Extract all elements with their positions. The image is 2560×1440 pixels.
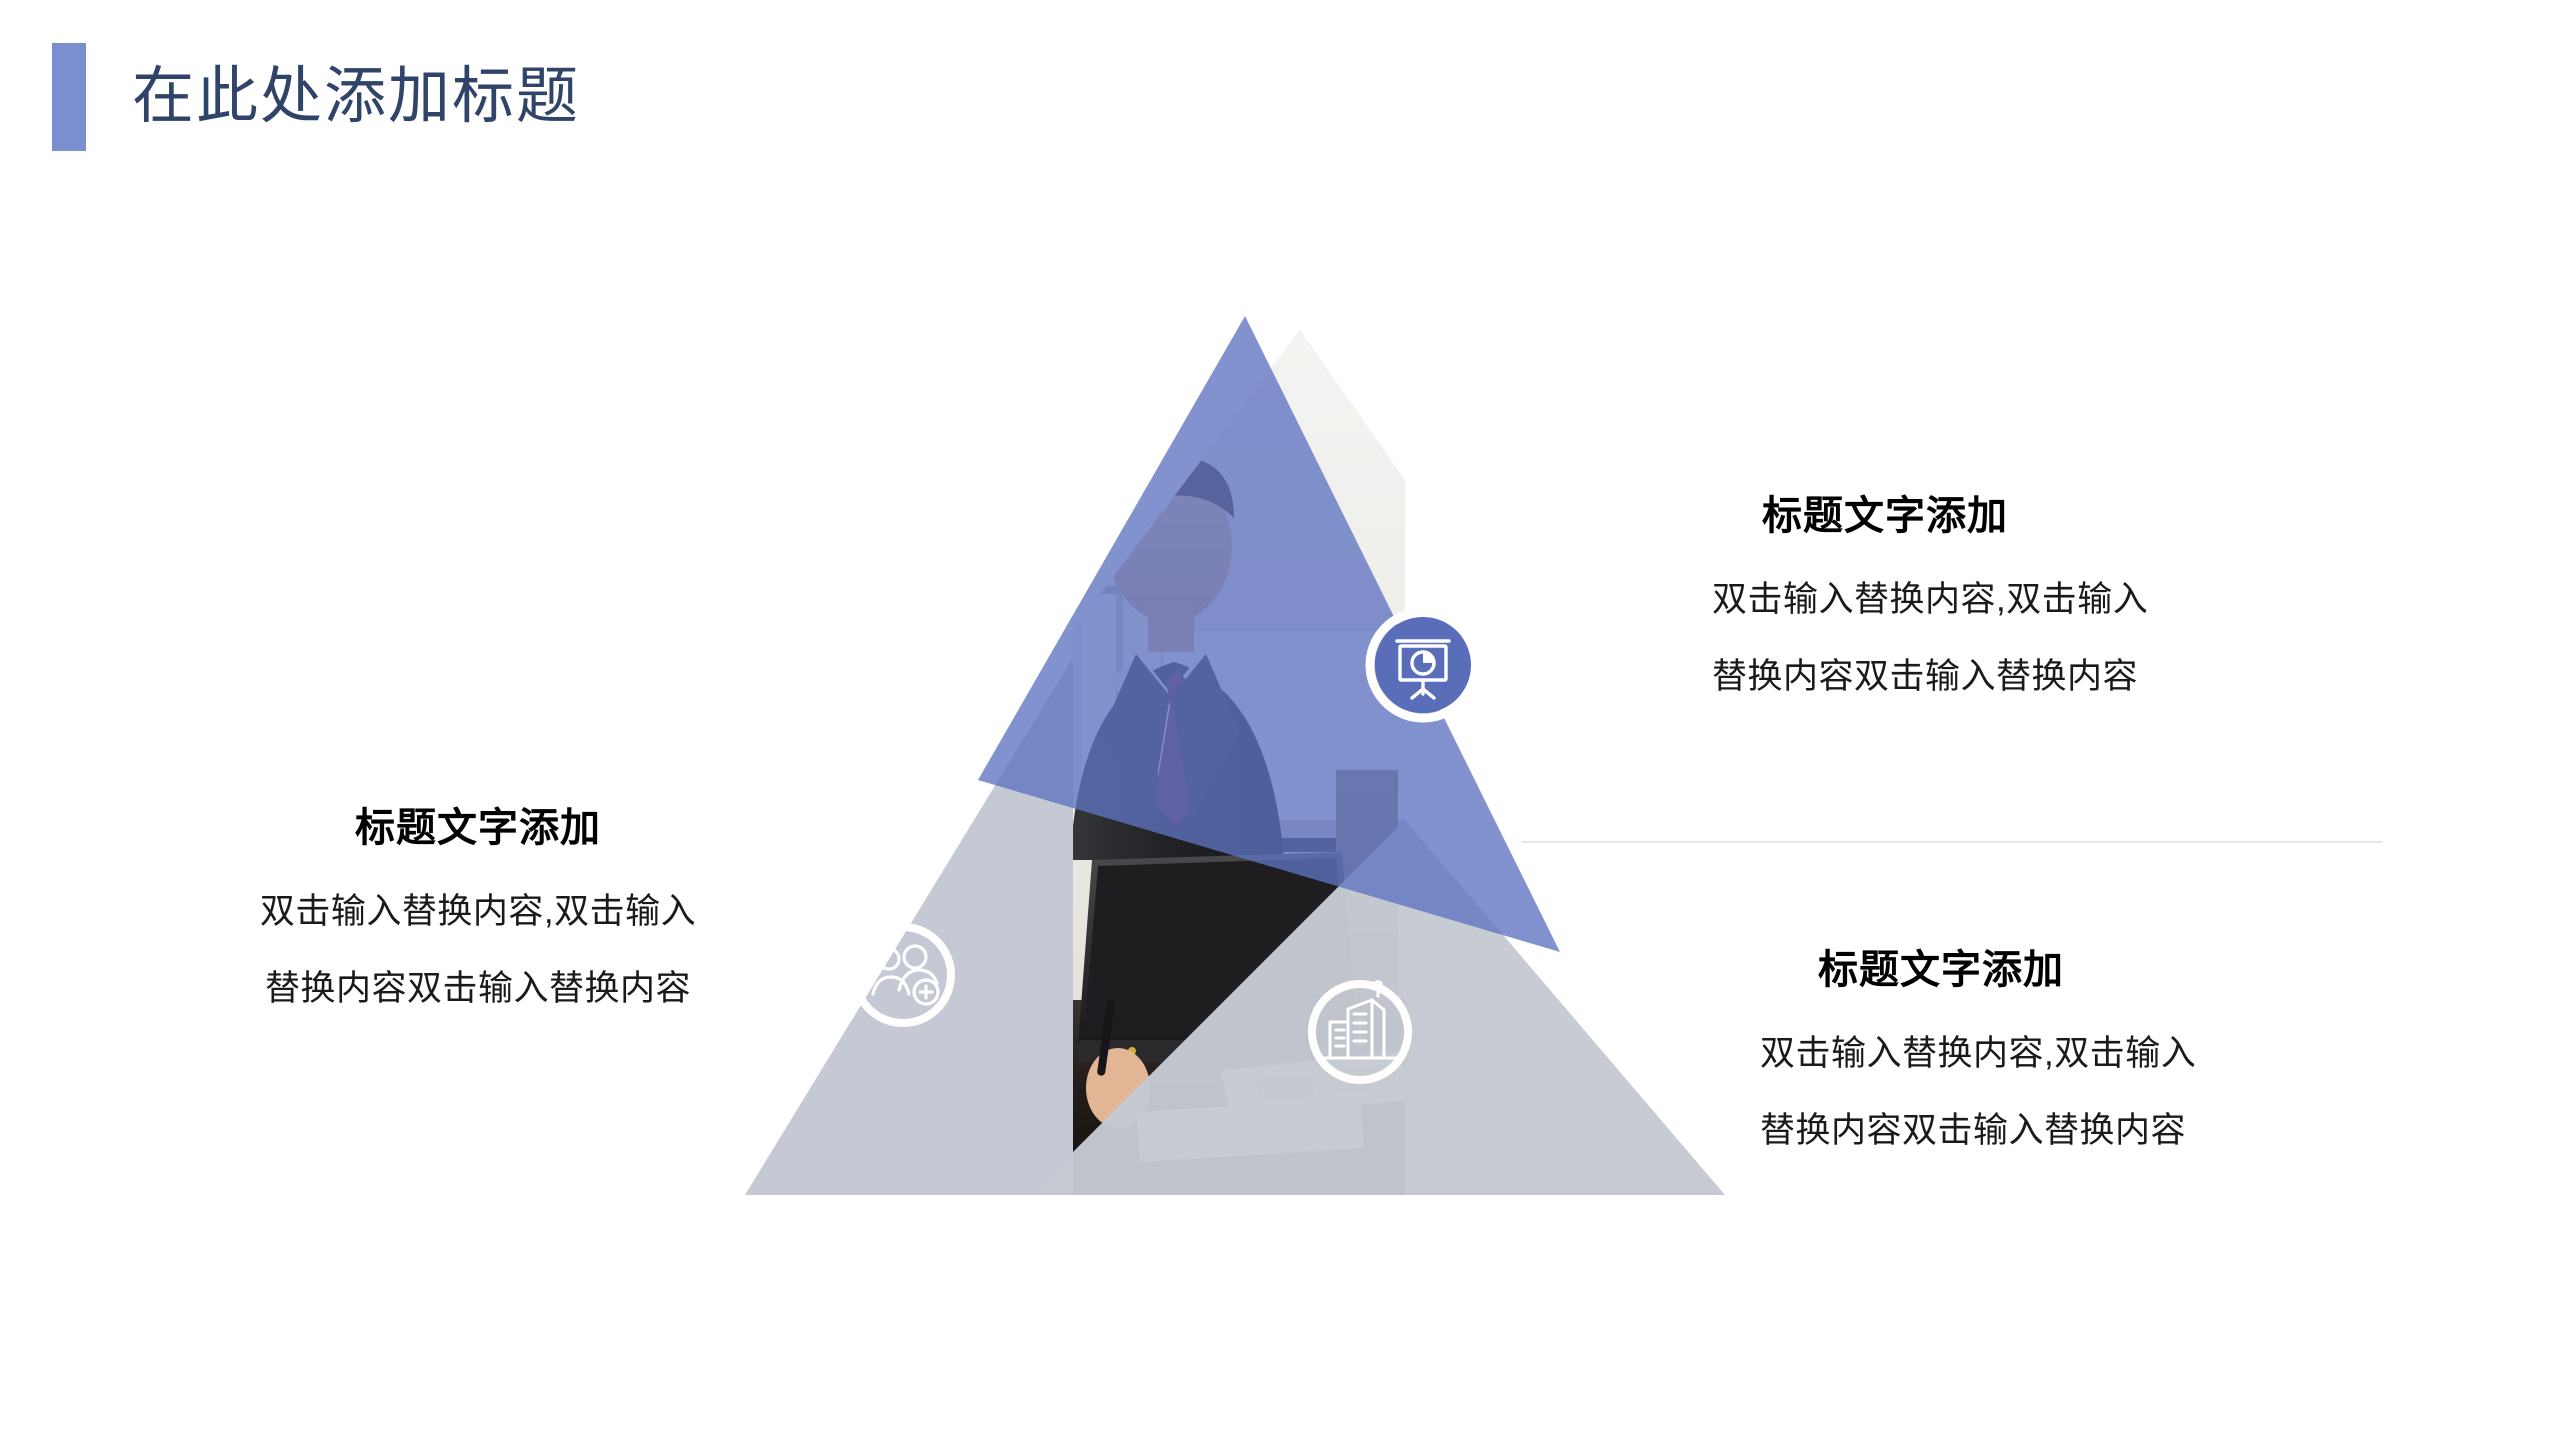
feature-block-bottom-right: 标题文字添加 双击输入替换内容,双击输入 替换内容双击输入替换内容 <box>1760 937 2480 1153</box>
feature-body-line-1: 双击输入替换内容,双击输入 <box>1712 571 2432 622</box>
icon-disc <box>1375 617 1471 713</box>
feature-body-line-2: 替换内容双击输入替换内容 <box>1760 1102 2480 1153</box>
triangle-infographic <box>700 300 1820 1240</box>
feature-body-line-1: 双击输入替换内容,双击输入 <box>198 883 758 934</box>
title-accent-bar <box>52 43 86 151</box>
feature-heading: 标题文字添加 <box>1762 483 2432 541</box>
divider <box>1522 841 2382 843</box>
page-title-text: 在此处添加标题 <box>132 66 580 128</box>
feature-heading: 标题文字添加 <box>1818 937 2480 995</box>
feature-body-line-2: 替换内容双击输入替换内容 <box>198 960 758 1011</box>
page-title: 在此处添加标题 <box>52 42 580 152</box>
feature-block-top-right: 标题文字添加 双击输入替换内容,双击输入 替换内容双击输入替换内容 <box>1712 483 2432 699</box>
feature-block-left: 标题文字添加 双击输入替换内容,双击输入 替换内容双击输入替换内容 <box>198 795 758 1011</box>
icon-badge-presentation[interactable] <box>1370 612 1476 718</box>
feature-heading: 标题文字添加 <box>198 795 758 853</box>
feature-body-line-2: 替换内容双击输入替换内容 <box>1712 648 2432 699</box>
triangle-infographic-svg <box>700 300 1820 1240</box>
feature-body-line-1: 双击输入替换内容,双击输入 <box>1760 1025 2480 1076</box>
